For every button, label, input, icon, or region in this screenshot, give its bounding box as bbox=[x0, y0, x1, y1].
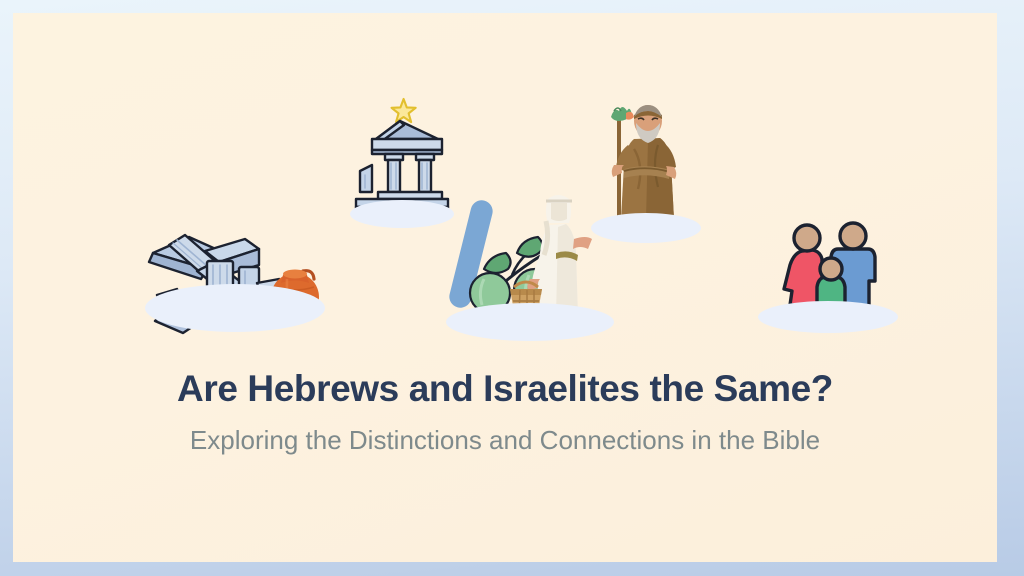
title-block: Are Hebrews and Israelites the Same? Exp… bbox=[13, 368, 997, 456]
page-title: Are Hebrews and Israelites the Same? bbox=[13, 368, 997, 411]
slide-canvas: Are Hebrews and Israelites the Same? Exp… bbox=[13, 13, 997, 562]
illustration-family-group bbox=[758, 203, 898, 343]
ruins-ground-shadow bbox=[145, 284, 325, 332]
patriarch-ground-shadow bbox=[591, 213, 701, 243]
harvest-ground-shadow bbox=[446, 303, 614, 341]
slide-frame: Are Hebrews and Israelites the Same? Exp… bbox=[0, 0, 1024, 576]
family-ground-shadow bbox=[758, 301, 898, 333]
star-icon bbox=[392, 99, 416, 122]
page-subtitle: Exploring the Distinctions and Connectio… bbox=[13, 425, 997, 456]
patriarch-body bbox=[612, 105, 677, 231]
illustration-patriarch bbox=[588, 93, 703, 248]
illustration-ancient-ruins bbox=[133, 221, 343, 346]
